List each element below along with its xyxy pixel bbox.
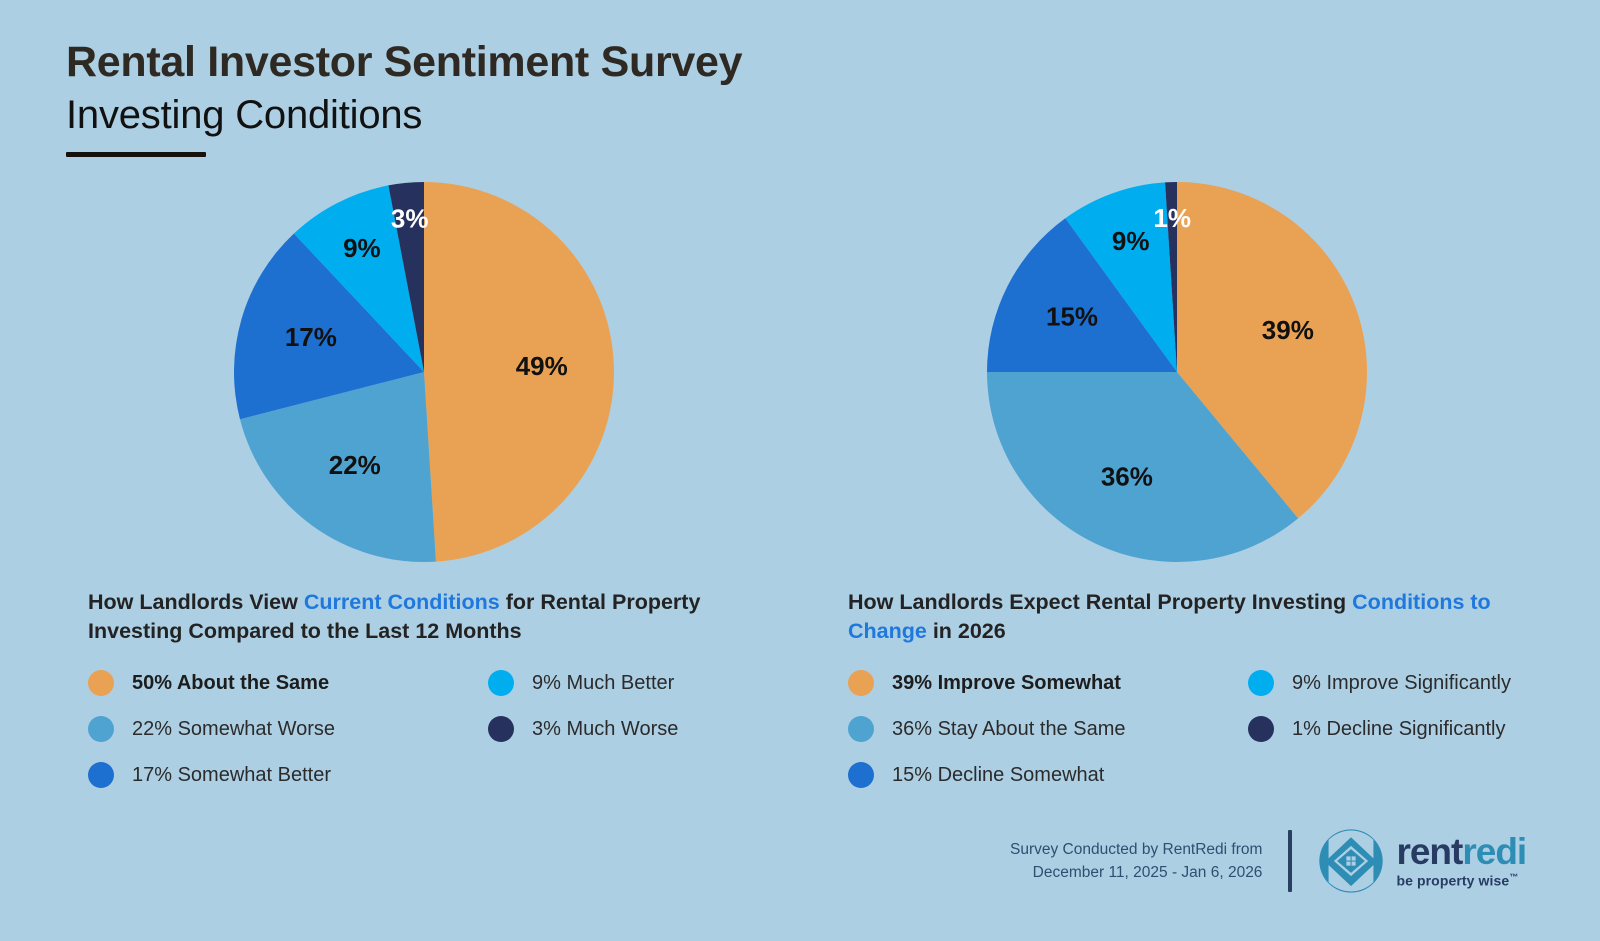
- legend-item: 9% Improve Significantly: [1248, 670, 1538, 696]
- rentredi-wordmark: rentredi be property wise™: [1396, 833, 1526, 889]
- legend-item: 36% Stay About the Same: [848, 716, 1248, 742]
- footer-divider: [1288, 830, 1292, 892]
- title-underline-rule: [66, 152, 206, 157]
- legend-label: 50% About the Same: [132, 672, 329, 695]
- legend-label: 9% Much Better: [532, 672, 674, 695]
- pie-slice-label: 15%: [1046, 301, 1098, 331]
- panel-current-conditions: How Landlords View Current Conditions fo…: [88, 588, 778, 788]
- legend-color-swatch: [848, 670, 874, 696]
- panel-expected-change: How Landlords Expect Rental Property Inv…: [848, 588, 1538, 788]
- legend-label: 9% Improve Significantly: [1292, 672, 1511, 695]
- pie-slice-label: 9%: [1112, 226, 1150, 256]
- legend-color-swatch: [88, 670, 114, 696]
- legend-item: 17% Somewhat Better: [88, 762, 488, 788]
- pie-slice-label: 9%: [343, 233, 381, 263]
- logo-word-rent: rent: [1396, 831, 1462, 872]
- legend-expected-change: 39% Improve Somewhat9% Improve Significa…: [848, 670, 1538, 788]
- logo-word-redi: redi: [1462, 831, 1526, 872]
- panel-right-title-part2: in 2026: [927, 619, 1006, 643]
- legend-item: 1% Decline Significantly: [1248, 716, 1538, 742]
- legend-label: 39% Improve Somewhat: [892, 672, 1121, 695]
- pie-chart-expected-change: 39%36%15%9%1%: [987, 182, 1367, 562]
- legend-color-swatch: [88, 762, 114, 788]
- legend-item: 9% Much Better: [488, 670, 778, 696]
- pie-chart-current-conditions: 49%22%17%9%3%: [234, 182, 614, 562]
- survey-credit-line-1: Survey Conducted by RentRedi from: [1010, 838, 1262, 861]
- page-title: Rental Investor Sentiment Survey: [66, 36, 742, 88]
- survey-credit-line-2: December 11, 2025 - Jan 6, 2026: [1010, 861, 1262, 884]
- legend-color-swatch: [1248, 670, 1274, 696]
- legend-label: 36% Stay About the Same: [892, 718, 1126, 741]
- legend-label: 1% Decline Significantly: [1292, 718, 1505, 741]
- legend-item: 39% Improve Somewhat: [848, 670, 1248, 696]
- panel-right-title: How Landlords Expect Rental Property Inv…: [848, 588, 1538, 646]
- legend-label: 22% Somewhat Worse: [132, 718, 335, 741]
- legend-item: 22% Somewhat Worse: [88, 716, 488, 742]
- legend-label: 17% Somewhat Better: [132, 764, 331, 787]
- panel-left-title-part1: How Landlords View: [88, 590, 304, 614]
- pie-slice-label: 39%: [1262, 315, 1314, 345]
- pie-slice-label: 49%: [516, 351, 568, 381]
- rentredi-logo: rentredi be property wise™: [1318, 828, 1526, 894]
- legend-color-swatch: [88, 716, 114, 742]
- pie-slice-label: 1%: [1153, 203, 1191, 233]
- panel-right-title-part1: How Landlords Expect Rental Property Inv…: [848, 590, 1352, 614]
- legend-item: 50% About the Same: [88, 670, 488, 696]
- legend-label: 15% Decline Somewhat: [892, 764, 1104, 787]
- panel-left-title: How Landlords View Current Conditions fo…: [88, 588, 778, 646]
- pie-slice-label: 17%: [285, 322, 337, 352]
- page-subtitle: Investing Conditions: [66, 92, 742, 138]
- rentredi-house-circle-icon: [1318, 828, 1384, 894]
- panel-left-title-highlight: Current Conditions: [304, 590, 500, 614]
- legend-item: 15% Decline Somewhat: [848, 762, 1248, 788]
- infographic-canvas: Rental Investor Sentiment Survey Investi…: [0, 0, 1600, 941]
- legend-color-swatch: [488, 716, 514, 742]
- legend-color-swatch: [1248, 716, 1274, 742]
- legend-current-conditions: 50% About the Same9% Much Better22% Some…: [88, 670, 778, 788]
- legend-label: 3% Much Worse: [532, 718, 678, 741]
- header-block: Rental Investor Sentiment Survey Investi…: [66, 36, 742, 157]
- survey-credit: Survey Conducted by RentRedi from Decemb…: [1010, 838, 1288, 884]
- logo-tagline: be property wise™: [1396, 872, 1526, 889]
- pie-slice-label: 3%: [391, 204, 429, 234]
- pie-slice-label: 36%: [1101, 461, 1153, 491]
- legend-item: 3% Much Worse: [488, 716, 778, 742]
- footer-block: Survey Conducted by RentRedi from Decemb…: [1010, 828, 1526, 894]
- pie-slice-label: 22%: [329, 450, 381, 480]
- legend-color-swatch: [488, 670, 514, 696]
- legend-color-swatch: [848, 762, 874, 788]
- legend-color-swatch: [848, 716, 874, 742]
